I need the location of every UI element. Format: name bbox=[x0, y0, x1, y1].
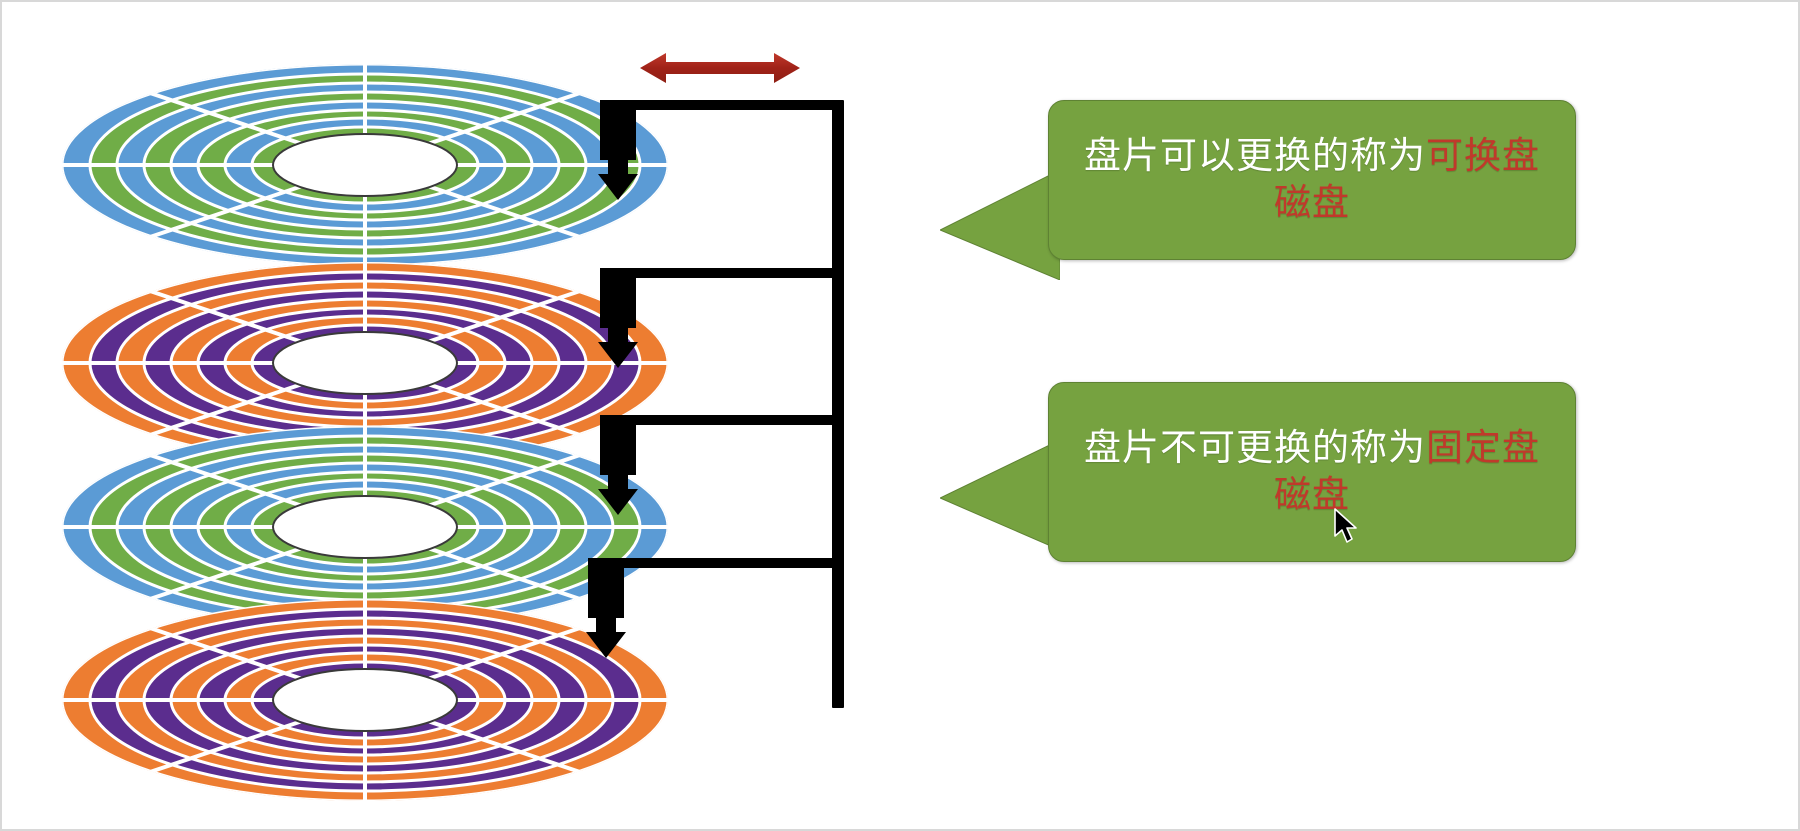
callout-removable-tail bbox=[940, 170, 1060, 280]
actuator-arm-3 bbox=[600, 415, 840, 425]
actuator-spine bbox=[832, 100, 844, 708]
callout-removable-text: 盘片可以更换的称为可换盘磁盘 bbox=[1083, 133, 1541, 228]
read-write-head-3 bbox=[600, 415, 636, 475]
actuator-arm-2 bbox=[600, 268, 840, 278]
platter-4 bbox=[60, 595, 670, 805]
mouse-cursor-icon bbox=[1334, 508, 1360, 546]
actuator-arm-4 bbox=[600, 558, 840, 568]
callout-fixed-tail bbox=[940, 440, 1060, 550]
head-arrow-3 bbox=[596, 467, 640, 515]
head-arrow-1 bbox=[596, 152, 640, 200]
platter-1-graphic bbox=[60, 60, 670, 270]
actuator-arm-1 bbox=[600, 100, 840, 110]
platter-1 bbox=[60, 60, 670, 270]
callout-fixed-text: 盘片不可更换的称为固定盘磁盘 bbox=[1083, 425, 1541, 520]
read-write-head-1 bbox=[600, 100, 636, 160]
callout-fixed[interactable]: 盘片不可更换的称为固定盘磁盘 bbox=[1048, 382, 1576, 562]
read-write-head-2 bbox=[600, 268, 636, 328]
callout-removable[interactable]: 盘片可以更换的称为可换盘磁盘 bbox=[1048, 100, 1576, 260]
head-arrow-2 bbox=[596, 320, 640, 368]
platter-4-graphic bbox=[60, 595, 670, 805]
slide-edge-left bbox=[0, 0, 2, 831]
slide-canvas: 盘片可以更换的称为可换盘磁盘 盘片不可更换的称为固定盘磁盘 bbox=[0, 0, 1800, 831]
callout-removable-white: 盘片可以更换的称为 bbox=[1084, 136, 1426, 177]
head-arrow-4 bbox=[584, 610, 628, 658]
callout-fixed-white: 盘片不可更换的称为 bbox=[1084, 428, 1426, 469]
actuator-assembly bbox=[600, 30, 860, 710]
read-write-head-4 bbox=[588, 558, 624, 618]
slide-edge-top bbox=[0, 0, 1800, 2]
